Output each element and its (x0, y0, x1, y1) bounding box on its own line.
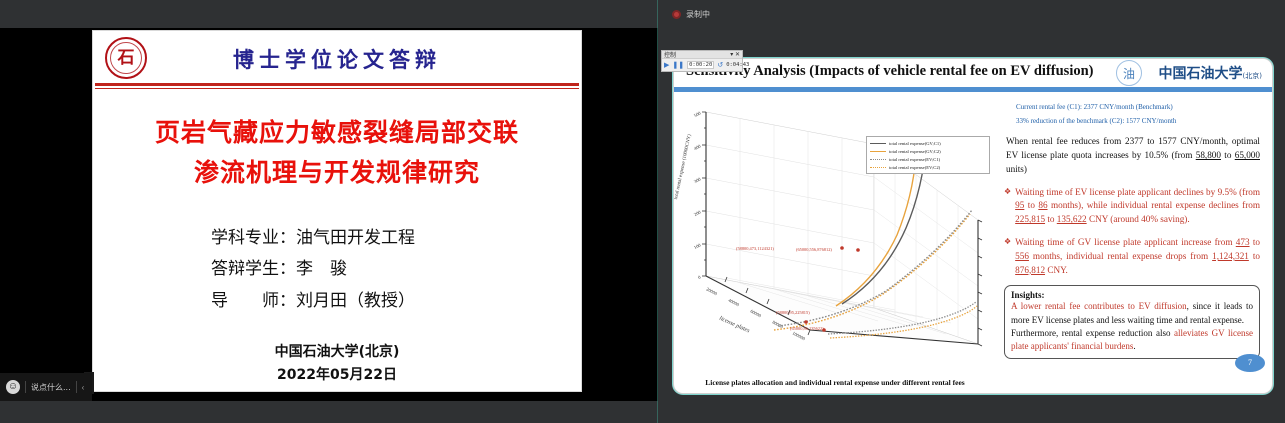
media-transport-row[interactable]: ▶ ❚❚ 0:00:20 ↺ 0:04:43 (662, 59, 742, 71)
presenter-stage: 录制中 控制 ▾ ✕ ▶ ❚❚ 0:00:20 ↺ 0:04:43 Sensit… (658, 0, 1285, 423)
svg-text:20000: 20000 (706, 286, 719, 296)
bullet-text: Waiting time of EV license plate applica… (1015, 186, 1260, 227)
divider-thin (95, 88, 579, 89)
divider-thick (95, 83, 579, 86)
chevron-left-icon[interactable]: ‹ (82, 383, 85, 392)
university-name-sub: (北京) (1243, 72, 1262, 80)
svg-text:500: 500 (693, 110, 702, 118)
insights-pre: Furthermore, rental expense reduction al… (1011, 328, 1174, 338)
university-logo-icon: 油 (1116, 60, 1142, 86)
svg-text:40000: 40000 (728, 297, 741, 307)
legend-swatch (870, 143, 886, 144)
title-line-2: 渗流机理与开发规律研究 (93, 153, 581, 193)
legend-swatch (870, 167, 886, 168)
recording-indicator: 录制中 (672, 9, 710, 20)
svg-text:60000: 60000 (750, 308, 763, 318)
svg-text:200: 200 (693, 209, 702, 217)
record-dot-icon (672, 10, 681, 19)
emoji-icon[interactable]: ☺ (6, 380, 20, 394)
summary-paragraph: When rental fee reduces from 2377 to 157… (1006, 135, 1260, 176)
text-column: Current rental fee (C1): 2377 CNY/month … (996, 92, 1272, 394)
insights-line-2: Furthermore, rental expense reduction al… (1011, 327, 1253, 353)
svg-text:0: 0 (697, 274, 702, 280)
screen-root: 石 博士学位论文答辩 页岩气藏应力敏感裂缝局部交联 渗流机理与开发规律研究 学科… (0, 0, 1285, 423)
slide-main-title: 页岩气藏应力敏感裂缝局部交联 渗流机理与开发规律研究 (93, 113, 581, 193)
bullet-text: Waiting time of GV license plate applica… (1015, 236, 1260, 277)
slide-header: 石 博士学位论文答辩 (93, 31, 581, 83)
svg-text:100000: 100000 (792, 330, 807, 341)
media-window-title: 控制 (664, 50, 676, 59)
note-line: 33% reduction of the benchmark (C2): 157… (1016, 116, 1264, 126)
legend-swatch (870, 159, 886, 160)
left-top-bar (0, 0, 658, 28)
slide-title-bar: Sensitivity Analysis (Impacts of vehicle… (674, 59, 1272, 87)
logo-glyph: 油 (1123, 65, 1135, 82)
insights-heading: Insights: (1011, 290, 1253, 300)
legend-label: total rental expense(GV;C1) (889, 141, 941, 146)
meta-value: 李 骏 (296, 259, 347, 279)
legend-item: total rental expense(GV;C2) (870, 147, 986, 155)
meta-label: 学科专业： (211, 228, 296, 248)
slide-header-title: 博士学位论文答辩 (93, 44, 581, 74)
meta-row: 学科专业：油气田开发工程 (211, 223, 581, 254)
recording-label: 录制中 (686, 9, 710, 20)
slide-meta-block: 学科专业：油气田开发工程 答辩学生：李 骏 导 师：刘月田（教授） (93, 223, 581, 317)
slide-number-badge: 7 (1235, 354, 1265, 372)
chat-divider (76, 381, 77, 393)
bullet-item: ❖ Waiting time of EV license plate appli… (1004, 186, 1260, 227)
footer-org: 中国石油大学(北京) (93, 341, 581, 363)
right-bottom-bar (658, 397, 1285, 423)
left-bottom-bar (0, 401, 658, 423)
chart-annotation: (58800,95,225815) (776, 310, 810, 315)
insights-post: . (1133, 341, 1135, 351)
insights-box: Insights: A lower rental fee contributes… (1004, 285, 1260, 358)
chart-caption: License plates allocation and individual… (674, 378, 996, 387)
close-icon[interactable]: ✕ (735, 52, 740, 58)
shared-screen-stage: 石 博士学位论文答辩 页岩气藏应力敏感裂缝局部交联 渗流机理与开发规律研究 学科… (0, 0, 658, 423)
minimize-icon[interactable]: ▾ (730, 52, 733, 58)
svg-text:300: 300 (693, 176, 702, 184)
diamond-bullet-icon: ❖ (1004, 236, 1011, 277)
play-icon[interactable]: ▶ (664, 62, 669, 69)
chart-legend: total rental expense(GV;C1) total rental… (866, 136, 990, 174)
meta-row: 导 师：刘月田（教授） (211, 286, 581, 317)
current-time: 0:00:20 (687, 61, 714, 69)
rewind-icon[interactable]: ↺ (717, 62, 723, 69)
note-line: Current rental fee (C1): 2377 CNY/month … (1016, 102, 1264, 112)
meta-label: 导 师： (211, 291, 296, 311)
total-time: 0:04:43 (726, 62, 749, 68)
svg-text:80000: 80000 (772, 319, 785, 329)
meta-value: 刘月田（教授） (296, 291, 415, 311)
legend-swatch (870, 151, 886, 152)
chart-column: 500 400 300 200 100 0 (674, 92, 996, 394)
chart-annotation: (65000,556,876812) (796, 247, 832, 252)
legend-label: total rental expense(EV;C2) (889, 165, 940, 170)
chat-input-bar[interactable]: ☺ 说点什么... ‹ (0, 373, 92, 401)
chart-annotation: (65000,86,135622) (790, 326, 824, 331)
media-window-titlebar[interactable]: 控制 ▾ ✕ (662, 51, 742, 59)
legend-item: total rental expense(EV;C2) (870, 163, 986, 171)
university-name: 中国石油大学(北京) (1159, 63, 1262, 83)
legend-label: total rental expense(GV;C2) (889, 149, 941, 154)
chat-input[interactable]: 说点什么... (31, 382, 71, 393)
surface-chart-3d: 500 400 300 200 100 0 (678, 94, 992, 369)
chart-annotation: (58800,473,1124321) (736, 246, 774, 251)
insights-highlight: A lower rental fee contributes to EV dif… (1011, 301, 1187, 311)
meta-value: 油气田开发工程 (296, 228, 415, 248)
footer-date: 2022年05月22日 (93, 364, 581, 386)
legend-label: total rental expense(EV;C1) (889, 157, 940, 162)
meta-row: 答辩学生：李 骏 (211, 254, 581, 285)
title-line-1: 页岩气藏应力敏感裂缝局部交联 (93, 113, 581, 153)
legend-item: total rental expense(EV;C1) (870, 155, 986, 163)
insights-line-1: A lower rental fee contributes to EV dif… (1011, 300, 1253, 326)
chat-divider (25, 381, 26, 393)
svg-text:100: 100 (693, 242, 702, 250)
legend-item: total rental expense(GV;C1) (870, 139, 986, 147)
presentation-slide-left: 石 博士学位论文答辩 页岩气藏应力敏感裂缝局部交联 渗流机理与开发规律研究 学科… (92, 30, 582, 392)
slide-footer: 中国石油大学(北京) 2022年05月22日 (93, 341, 581, 386)
bullet-item: ❖ Waiting time of GV license plate appli… (1004, 236, 1260, 277)
university-name-main: 中国石油大学 (1159, 66, 1243, 82)
diamond-bullet-icon: ❖ (1004, 186, 1011, 227)
meta-label: 答辩学生： (211, 259, 296, 279)
slide-body: 500 400 300 200 100 0 (674, 92, 1272, 394)
media-control-window[interactable]: 控制 ▾ ✕ ▶ ❚❚ 0:00:20 ↺ 0:04:43 (661, 50, 743, 72)
presentation-slide-right: Sensitivity Analysis (Impacts of vehicle… (673, 58, 1273, 394)
svg-text:400: 400 (693, 143, 702, 151)
pause-icon[interactable]: ❚❚ (672, 62, 684, 69)
